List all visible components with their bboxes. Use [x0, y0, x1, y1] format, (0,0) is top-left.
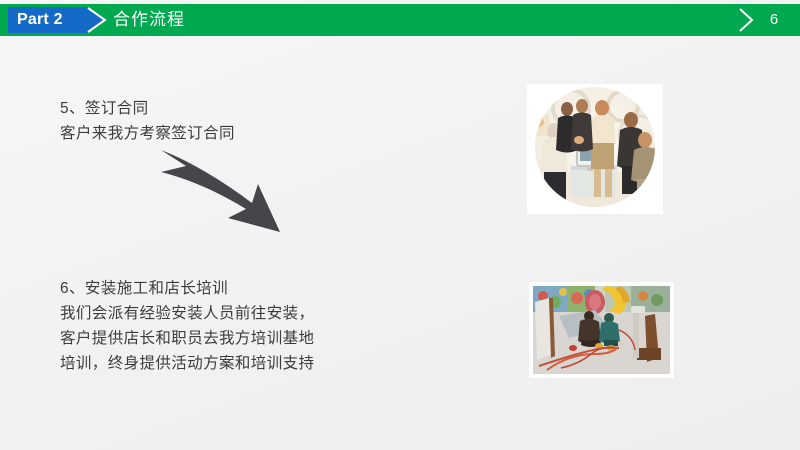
step-6-line-3: 培训，终身提供活动方案和培训支持	[60, 351, 314, 376]
part-badge-chevron-outline-icon	[86, 7, 107, 33]
step-5-text-block: 5、签订合同 客户来我方考察签订合同	[60, 96, 235, 146]
page-title: 合作流程	[113, 9, 185, 31]
part-badge-label: Part 2	[17, 12, 63, 28]
curved-arrow-down-right-icon	[158, 146, 303, 246]
part-badge: Part 2	[8, 7, 86, 33]
step-6-heading: 6、安装施工和店长培训	[60, 276, 314, 301]
page-number: 6	[764, 10, 784, 30]
photo-install-image	[529, 282, 674, 378]
step-5-line-1: 客户来我方考察签订合同	[60, 121, 235, 146]
photo-meeting-image	[527, 84, 663, 214]
presentation-slide: Part 2 合作流程 6 5、签订合同 客户来我方考察签订合同 6、安装施工和…	[0, 0, 800, 450]
step-5-heading: 5、签订合同	[60, 96, 235, 121]
step-6-line-2: 客户提供店长和职员去我方培训基地	[60, 326, 314, 351]
step-6-text-block: 6、安装施工和店长培训 我们会派有经验安装人员前往安装， 客户提供店长和职员去我…	[60, 276, 314, 376]
chevron-right-icon	[738, 8, 754, 32]
photo-meeting	[527, 84, 663, 214]
photo-install	[529, 282, 674, 378]
step-6-line-1: 我们会派有经验安装人员前往安装，	[60, 301, 314, 326]
